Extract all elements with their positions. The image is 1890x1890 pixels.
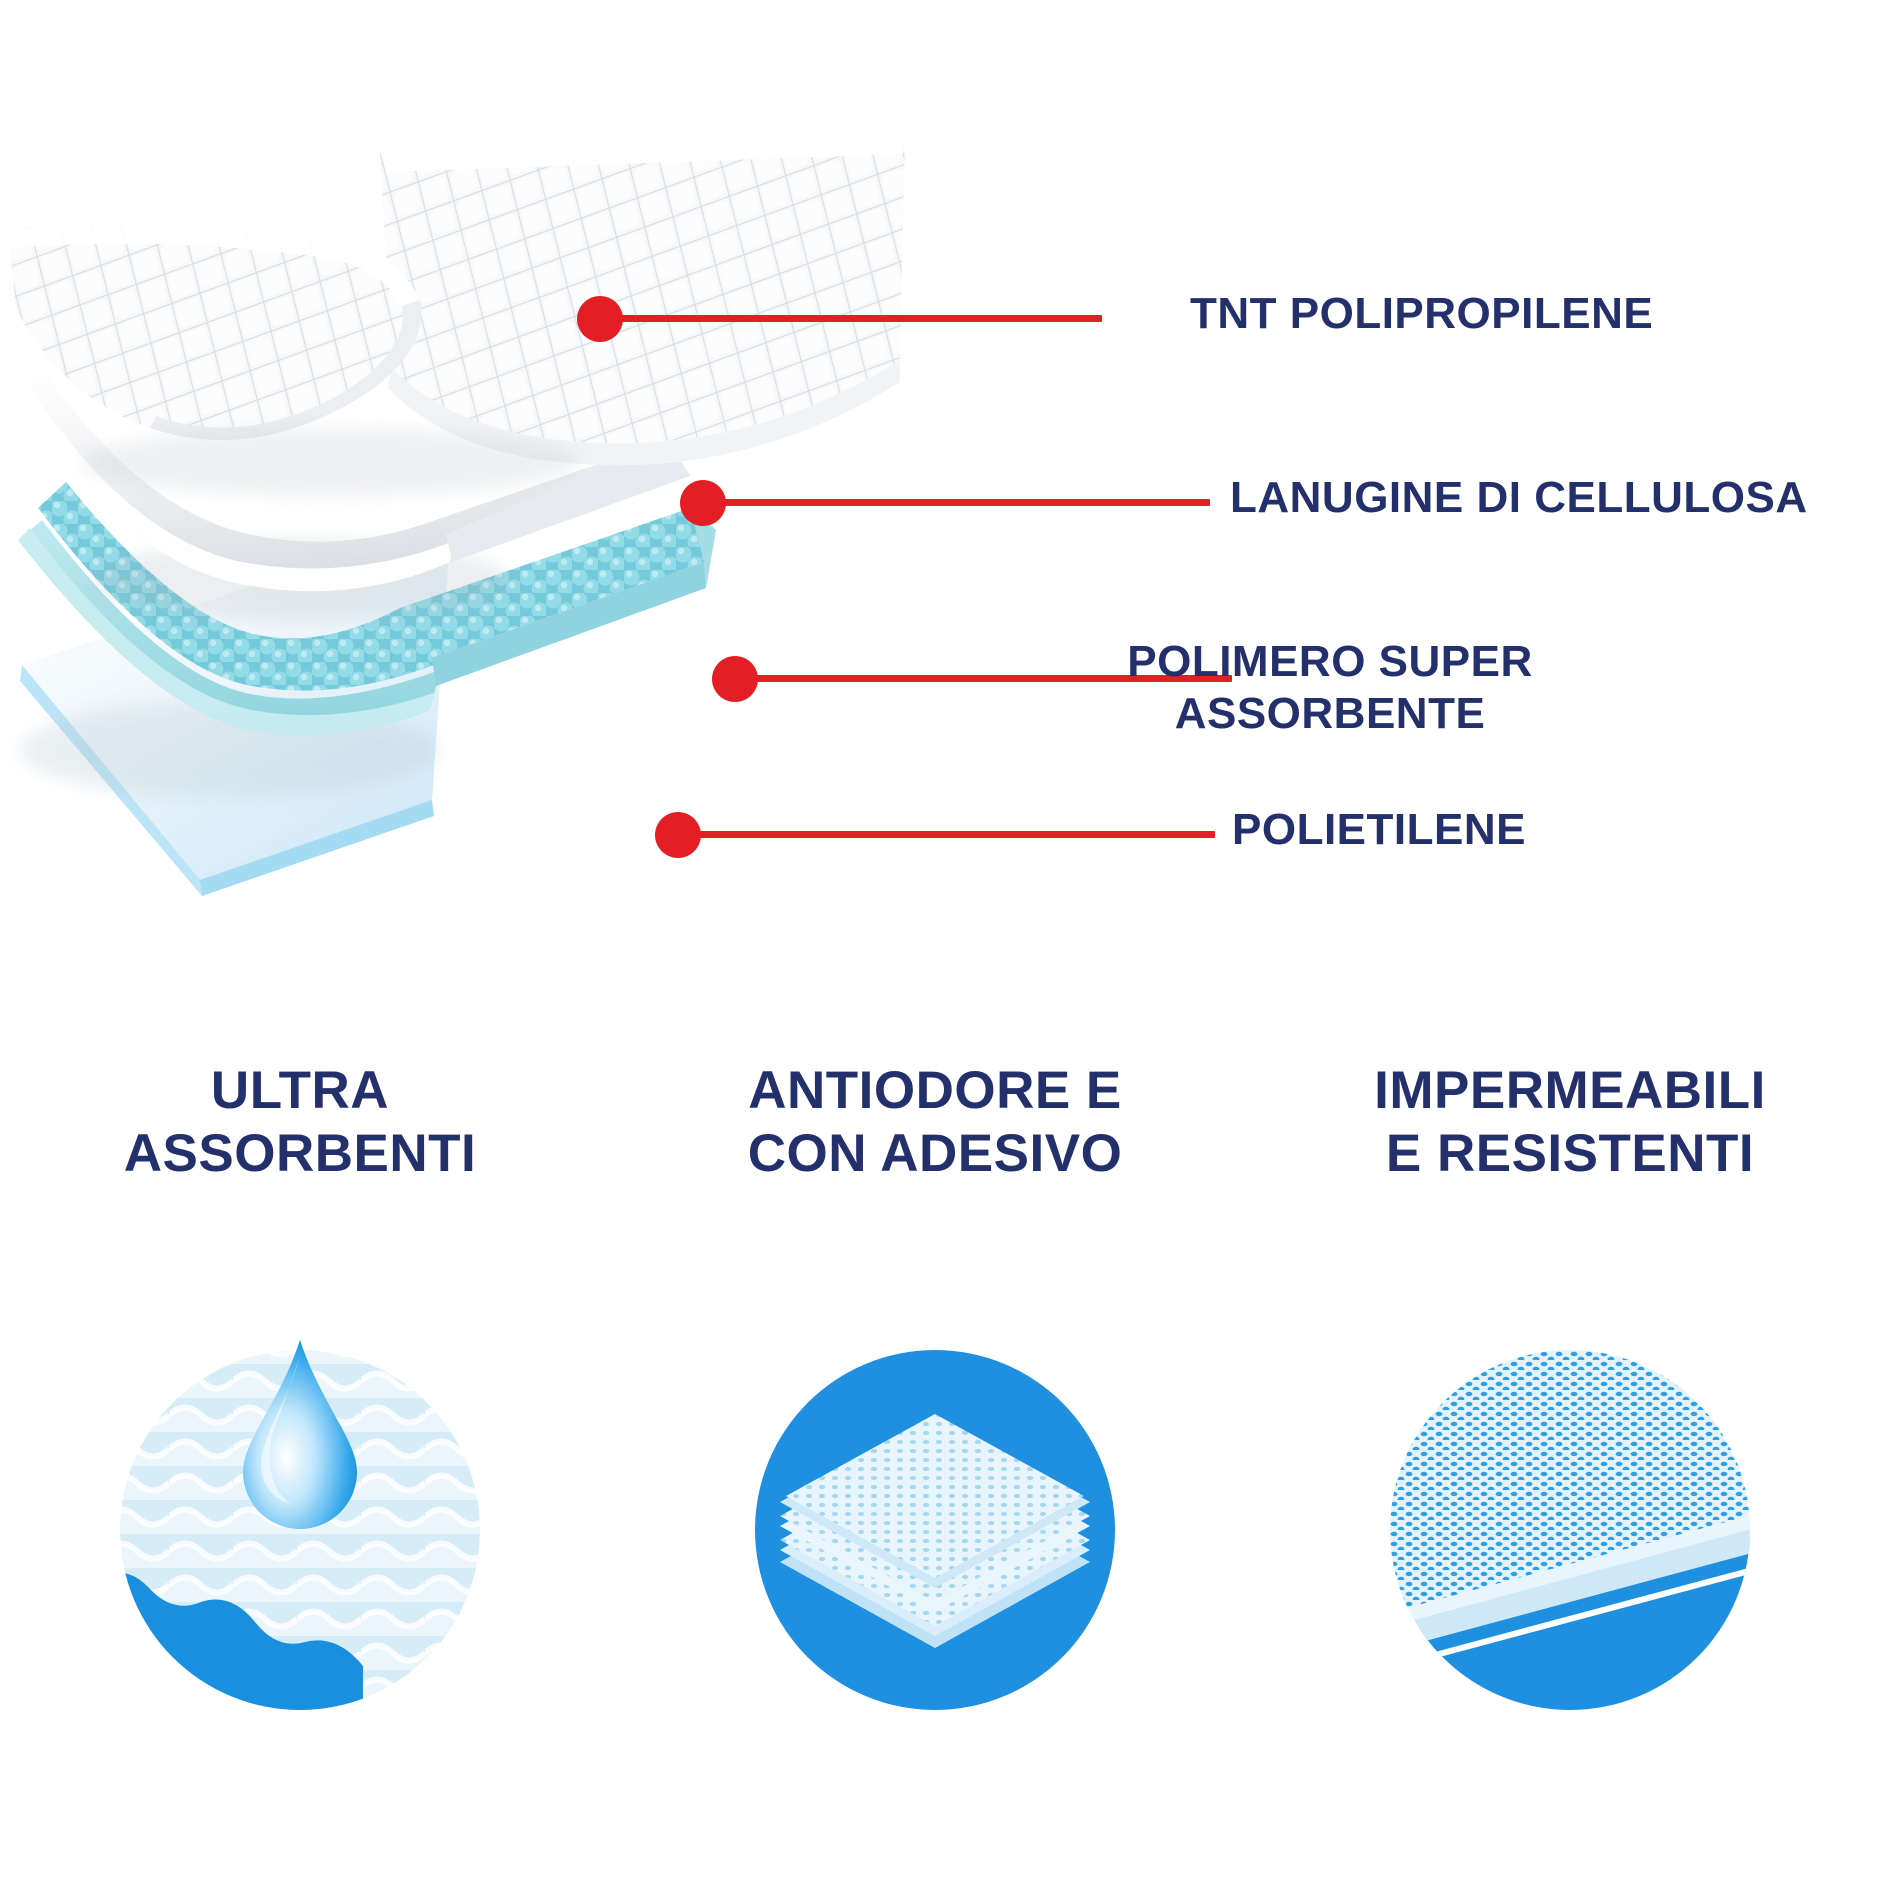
feature-impermeabili-resistenti: IMPERMEABILI E RESISTENTI <box>1290 1060 1850 1185</box>
feature-title: ANTIODORE E CON ADESIVO <box>655 1060 1215 1185</box>
layer-label-pe: POLIETILENE <box>1232 804 1526 856</box>
leader-line-tnt <box>615 315 1102 322</box>
exploded-pad-illustration <box>0 110 930 910</box>
layer-diagram-section: TNT POLIPROPILENE LANUGINE DI CELLULOSA … <box>0 0 1890 1010</box>
layer-label-tnt: TNT POLIPROPILENE <box>1190 288 1653 340</box>
features-section: ULTRA ASSORBENTI <box>0 1060 1890 1890</box>
leader-line-pe <box>693 831 1215 838</box>
feature-ultra-assorbenti: ULTRA ASSORBENTI <box>20 1060 580 1185</box>
layer-label-sap: POLIMERO SUPER ASSORBENTE <box>1127 636 1533 740</box>
super-absorbent-polymer-layer <box>18 482 716 798</box>
infographic-canvas: TNT POLIPROPILENE LANUGINE DI CELLULOSA … <box>0 0 1890 1890</box>
layered-perforated-pad-icon <box>740 1330 1130 1720</box>
tnt-polypropylene-layer <box>8 132 905 496</box>
perforated-waterproof-sheet-icon <box>1375 1330 1765 1720</box>
feature-title: IMPERMEABILI E RESISTENTI <box>1290 1060 1850 1185</box>
leader-line-fluff <box>718 499 1210 506</box>
layer-label-fluff: LANUGINE DI CELLULOSA <box>1230 472 1808 524</box>
feature-title: ULTRA ASSORBENTI <box>20 1060 580 1185</box>
feature-antiodore-con-adesivo: ANTIODORE E CON ADESIVO <box>655 1060 1215 1185</box>
water-drop-absorbing-fabric-icon <box>105 1330 495 1720</box>
